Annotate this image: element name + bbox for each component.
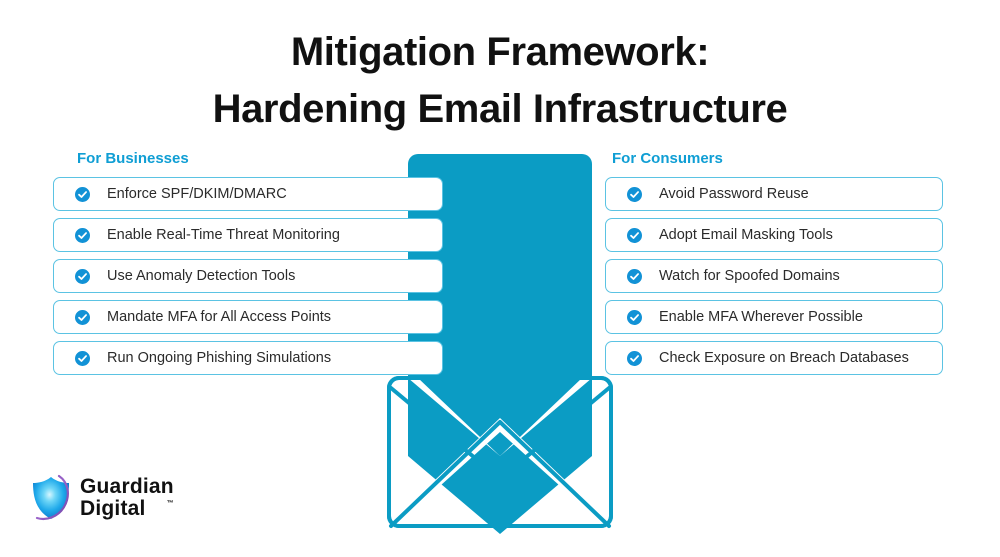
list-item[interactable]: Run Ongoing Phishing Simulations <box>53 341 443 375</box>
logo-word-digital: Digital™ <box>80 498 174 520</box>
list-item[interactable]: Check Exposure on Breach Databases <box>605 341 943 375</box>
list-item-label: Check Exposure on Breach Databases <box>659 350 909 367</box>
logo-word-guardian: Guardian <box>80 476 174 498</box>
list-item[interactable]: Enable MFA Wherever Possible <box>605 300 943 334</box>
title-line-1: Mitigation Framework: <box>0 24 1000 81</box>
page-title: Mitigation Framework: Hardening Email In… <box>0 24 1000 138</box>
check-circle-icon <box>627 269 642 284</box>
check-circle-icon <box>75 269 90 284</box>
brand-logo: Guardian Digital™ <box>28 473 174 523</box>
list-item-label: Enable Real-Time Threat Monitoring <box>107 227 340 244</box>
list-item[interactable]: Enable Real-Time Threat Monitoring <box>53 218 443 252</box>
column-businesses: For Businesses Enforce SPF/DKIM/DMARC En… <box>53 150 443 382</box>
list-consumers: Avoid Password Reuse Adopt Email Masking… <box>605 177 943 375</box>
column-heading-businesses: For Businesses <box>77 150 443 168</box>
list-item-label: Watch for Spoofed Domains <box>659 268 840 285</box>
list-item[interactable]: Enforce SPF/DKIM/DMARC <box>53 177 443 211</box>
check-circle-icon <box>627 187 642 202</box>
list-item-label: Use Anomaly Detection Tools <box>107 268 295 285</box>
list-item-label: Enforce SPF/DKIM/DMARC <box>107 186 287 203</box>
logo-word-digital-text: Digital <box>80 497 146 520</box>
check-circle-icon <box>627 351 642 366</box>
list-item-label: Mandate MFA for All Access Points <box>107 309 331 326</box>
check-circle-icon <box>627 228 642 243</box>
guardian-shield-icon <box>28 473 74 523</box>
check-circle-icon <box>75 187 90 202</box>
check-circle-icon <box>627 310 642 325</box>
list-item[interactable]: Adopt Email Masking Tools <box>605 218 943 252</box>
logo-wordmark: Guardian Digital™ <box>80 476 174 520</box>
check-circle-icon <box>75 310 90 325</box>
column-heading-consumers: For Consumers <box>612 150 943 168</box>
list-item-label: Avoid Password Reuse <box>659 186 809 203</box>
list-item-label: Enable MFA Wherever Possible <box>659 309 863 326</box>
check-circle-icon <box>75 351 90 366</box>
check-circle-icon <box>75 228 90 243</box>
title-line-2: Hardening Email Infrastructure <box>0 81 1000 138</box>
column-consumers: For Consumers Avoid Password Reuse Adopt… <box>605 150 943 382</box>
list-businesses: Enforce SPF/DKIM/DMARC Enable Real-Time … <box>53 177 443 375</box>
list-item[interactable]: Mandate MFA for All Access Points <box>53 300 443 334</box>
list-item[interactable]: Avoid Password Reuse <box>605 177 943 211</box>
list-item[interactable]: Use Anomaly Detection Tools <box>53 259 443 293</box>
trademark-symbol: ™ <box>167 500 174 508</box>
list-item[interactable]: Watch for Spoofed Domains <box>605 259 943 293</box>
list-item-label: Adopt Email Masking Tools <box>659 227 833 244</box>
infographic-canvas: Mitigation Framework: Hardening Email In… <box>0 0 1000 557</box>
list-item-label: Run Ongoing Phishing Simulations <box>107 350 331 367</box>
